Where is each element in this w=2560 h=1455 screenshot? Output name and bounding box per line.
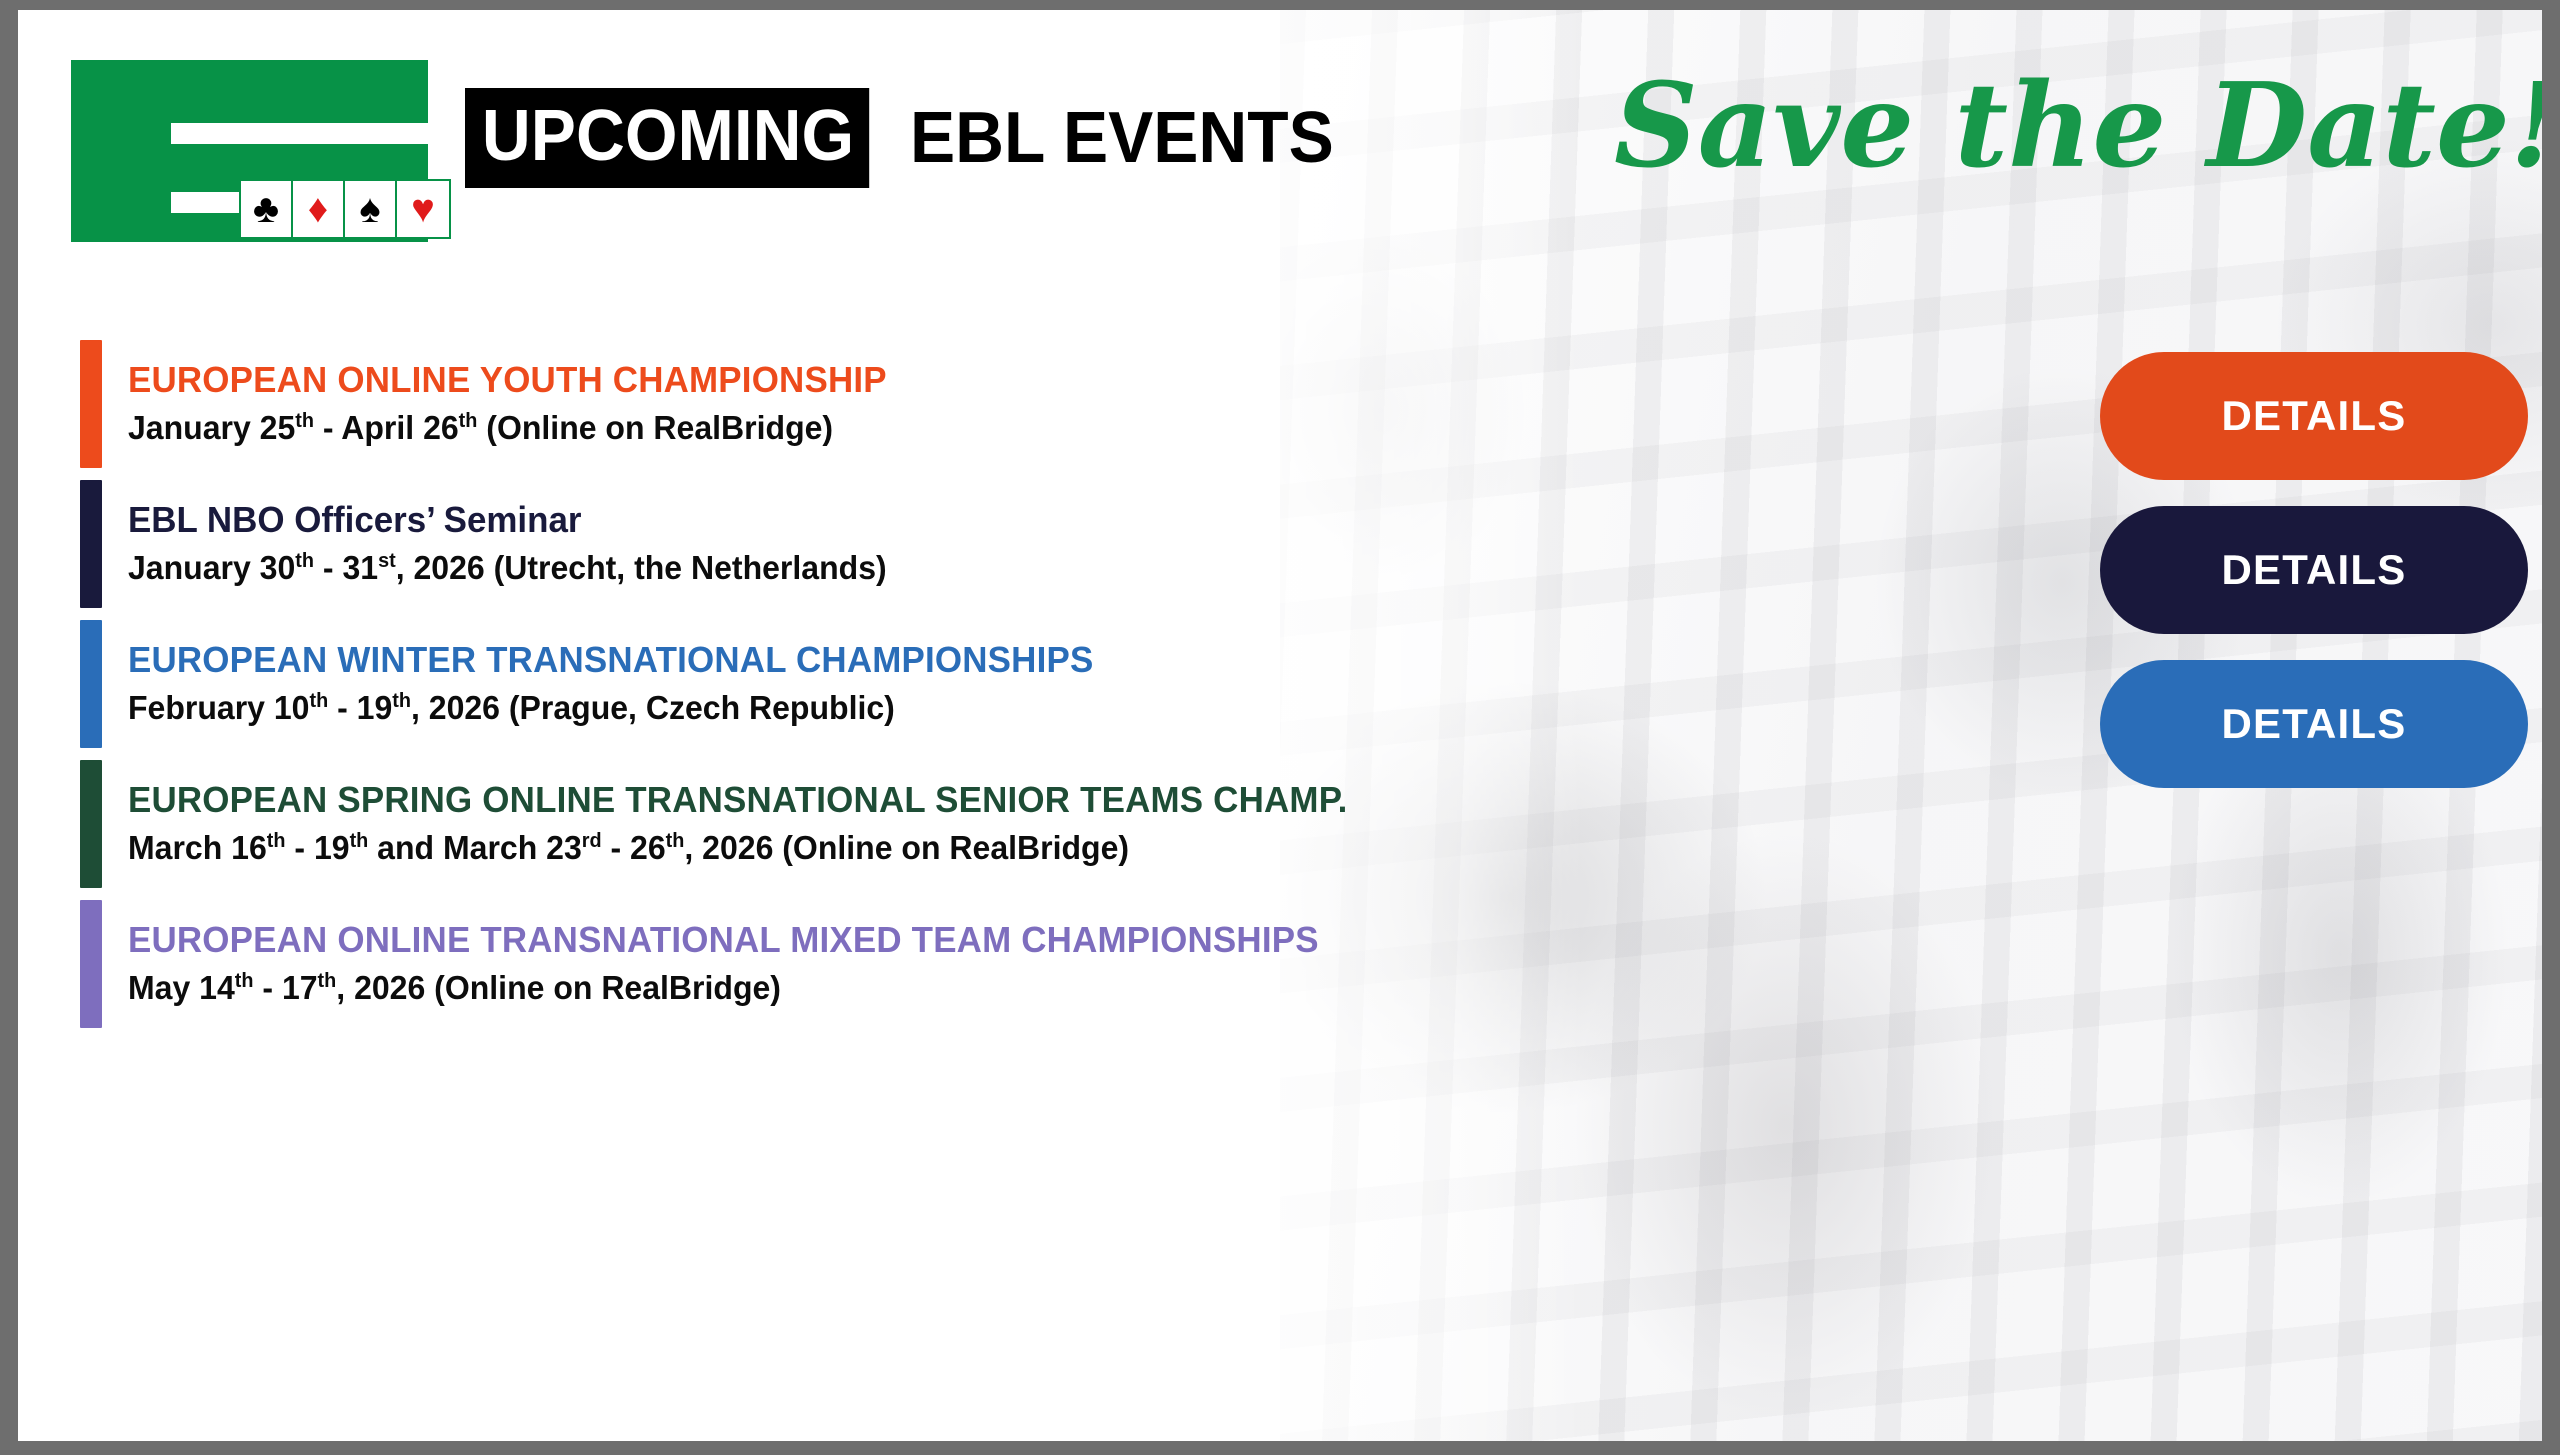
event-title: EBL NBO Officers’ Seminar	[128, 500, 887, 540]
event-date: March 16th - 19th and March 23rd - 26th,…	[128, 828, 1348, 868]
event-date: February 10th - 19th, 2026 (Prague, Czec…	[128, 688, 1093, 728]
spade-suit-icon: ♠	[345, 181, 397, 237]
event-accent-bar	[80, 480, 102, 608]
title-badge-upcoming: UPCOMING	[465, 88, 869, 188]
club-suit-icon: ♣	[241, 181, 293, 237]
details-button-winter-transnational[interactable]: DETAILS	[2100, 660, 2528, 788]
event-accent-bar	[80, 340, 102, 468]
ebl-logo: ♣ ♦ ♠ ♥	[71, 60, 428, 242]
diamond-suit-icon: ♦	[293, 181, 345, 237]
event-text-block: EBL NBO Officers’ Seminar January 30th -…	[102, 480, 910, 608]
event-text-block: EUROPEAN ONLINE TRANSNATIONAL MIXED TEAM…	[102, 900, 1356, 1028]
event-text-block: EUROPEAN WINTER TRANSNATIONAL CHAMPIONSH…	[102, 620, 1123, 748]
event-text-block: EUROPEAN SPRING ONLINE TRANSNATIONAL SEN…	[102, 760, 1385, 888]
save-the-date-script: Save the Date!	[1602, 46, 2482, 206]
details-button-youth-championship[interactable]: DETAILS	[2100, 352, 2528, 480]
header: ♣ ♦ ♠ ♥ UPCOMING EBL EVENTS Save the Dat…	[18, 10, 2542, 220]
event-title: EUROPEAN SPRING ONLINE TRANSNATIONAL SEN…	[128, 780, 1348, 820]
poster: ♣ ♦ ♠ ♥ UPCOMING EBL EVENTS Save the Dat…	[18, 10, 2542, 1441]
event-date: January 25th - April 26th (Online on Rea…	[128, 408, 887, 448]
poster-frame: ♣ ♦ ♠ ♥ UPCOMING EBL EVENTS Save the Dat…	[0, 0, 2560, 1455]
save-the-date-text: Save the Date!	[1614, 58, 2542, 194]
heart-suit-icon: ♥	[397, 181, 449, 237]
event-text-block: EUROPEAN ONLINE YOUTH CHAMPIONSHIP Janua…	[102, 340, 910, 468]
card-suits-strip: ♣ ♦ ♠ ♥	[239, 179, 451, 239]
page-title: UPCOMING EBL EVENTS	[465, 88, 1362, 188]
title-ebl-events: EBL EVENTS	[895, 103, 1334, 174]
event-row: EUROPEAN ONLINE TRANSNATIONAL MIXED TEAM…	[18, 900, 2542, 1028]
event-accent-bar	[80, 900, 102, 1028]
logo-e-stem	[71, 60, 171, 242]
event-title: EUROPEAN WINTER TRANSNATIONAL CHAMPIONSH…	[128, 640, 1093, 680]
details-button-nbo-officers-seminar[interactable]: DETAILS	[2100, 506, 2528, 634]
event-date: January 30th - 31st, 2026 (Utrecht, the …	[128, 548, 887, 588]
event-title: EUROPEAN ONLINE TRANSNATIONAL MIXED TEAM…	[128, 920, 1319, 960]
event-date: May 14th - 17th, 2026 (Online on RealBri…	[128, 968, 1319, 1008]
event-title: EUROPEAN ONLINE YOUTH CHAMPIONSHIP	[128, 360, 887, 400]
event-accent-bar	[80, 760, 102, 888]
event-accent-bar	[80, 620, 102, 748]
